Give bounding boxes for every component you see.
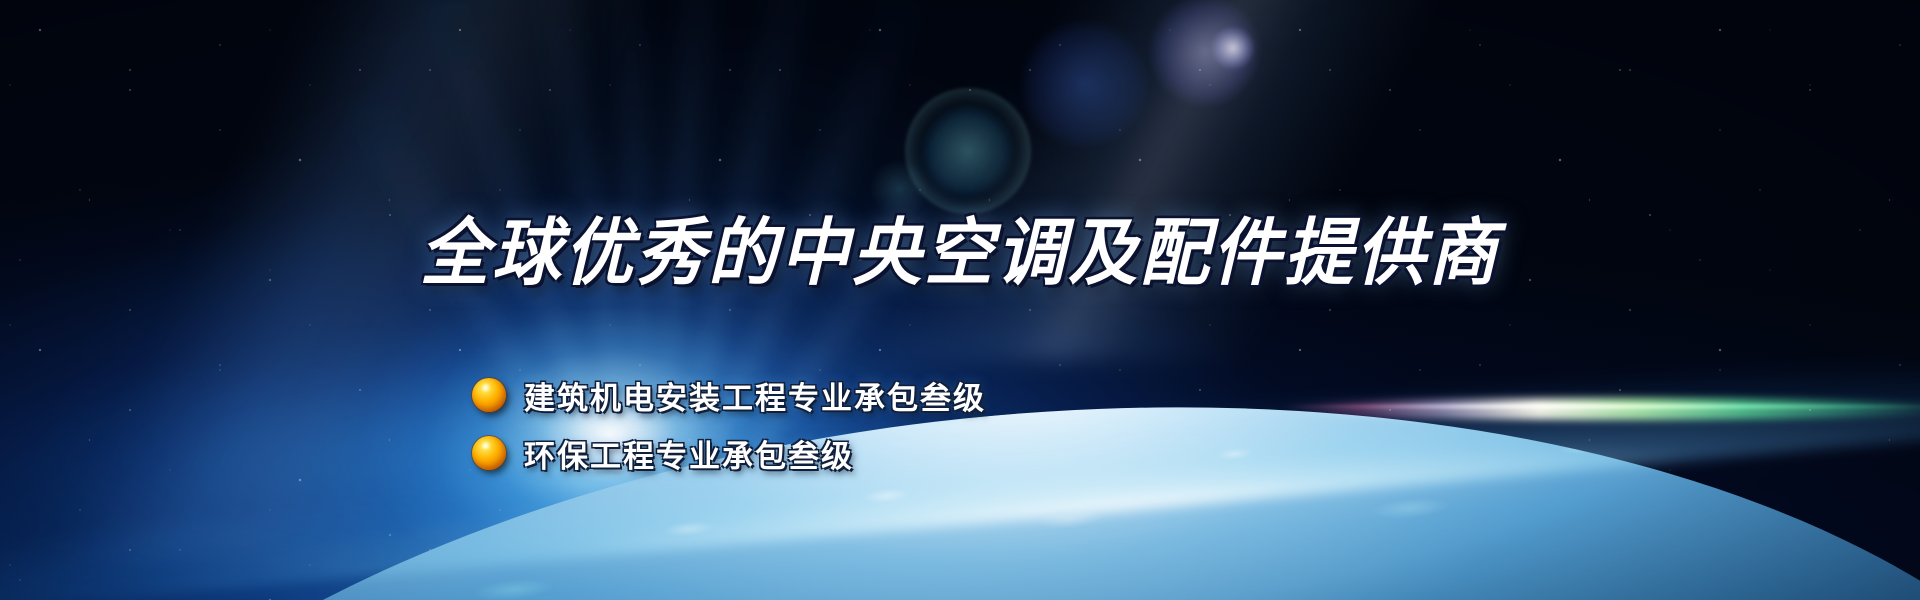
banner-headline: 全球优秀的中央空调及配件提供商 [0,193,1920,299]
orange-sphere-bullet-icon [472,436,506,470]
bullet-item-label: 环保工程专业承包叁级 [524,431,854,476]
banner-content: 全球优秀的中央空调及配件提供商 建筑机电安装工程专业承包叁级 环保工程专业承包叁… [0,0,1920,600]
bullet-item-label: 建筑机电安装工程专业承包叁级 [524,373,986,418]
banner-bullet-list: 建筑机电安装工程专业承包叁级 环保工程专业承包叁级 [472,368,986,484]
bullet-item: 建筑机电安装工程专业承包叁级 [472,368,986,422]
bullet-item: 环保工程专业承包叁级 [472,426,986,480]
hero-banner: 全球优秀的中央空调及配件提供商 建筑机电安装工程专业承包叁级 环保工程专业承包叁… [0,0,1920,600]
orange-sphere-bullet-icon [472,378,506,412]
